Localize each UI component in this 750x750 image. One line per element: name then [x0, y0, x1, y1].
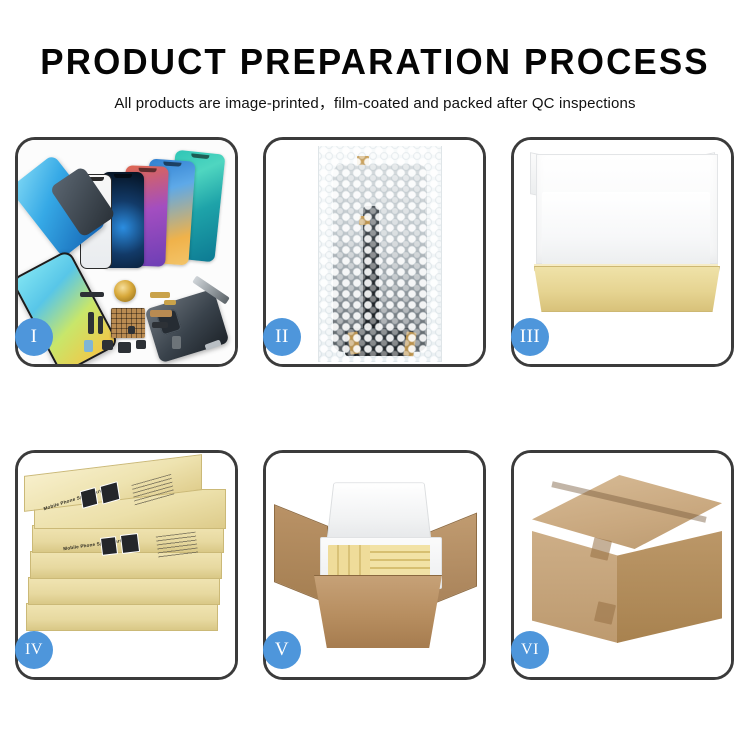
page-subtitle: All products are image-printed，film-coat…: [0, 84, 750, 113]
step-badge-v: V: [263, 631, 301, 669]
step-badge-iii: III: [511, 318, 549, 356]
carton-body: [314, 575, 442, 648]
process-step-grid: I II: [15, 137, 735, 680]
foam-lid-icon: [326, 482, 432, 544]
retail-box-layer: [28, 577, 220, 605]
gold-contact-icon: [150, 310, 172, 317]
ribbon-cable-icon: [98, 316, 103, 334]
step-card-iv[interactable]: Mobile Phone Spare Parts Mobile Phone Sp…: [15, 450, 238, 680]
step-badge-i: I: [15, 318, 53, 356]
step-card-ii[interactable]: II: [263, 137, 486, 367]
step-badge-iv: IV: [15, 631, 53, 669]
step-card-vi[interactable]: VI: [511, 450, 734, 680]
page-header: PRODUCT PREPARATION PROCESS All products…: [0, 0, 750, 113]
camera-module-icon: [102, 340, 113, 350]
step-badge-vi: VI: [511, 631, 549, 669]
step-card-v[interactable]: V: [263, 450, 486, 680]
ribbon-cable-icon: [88, 312, 94, 334]
step-card-i[interactable]: I: [15, 137, 238, 367]
bubble-bag: [318, 146, 442, 362]
connector-icon: [150, 292, 170, 298]
flex-cable-icon: [80, 292, 104, 297]
screw-part-icon: [128, 326, 135, 334]
coil-part-icon: [114, 280, 136, 302]
retail-box-layer: [30, 551, 222, 579]
step-card-iii[interactable]: III: [511, 137, 734, 367]
retail-box-layer: [26, 603, 218, 631]
battery-part-icon: [84, 340, 93, 352]
module-icon: [152, 322, 168, 328]
bubble-texture: [319, 146, 441, 362]
step-badge-ii: II: [263, 318, 301, 356]
button-part-icon: [172, 336, 181, 349]
box-artwork-thumb: [100, 536, 118, 556]
speaker-module-icon: [118, 342, 131, 353]
box-front-wall: [534, 266, 720, 312]
foam-sheet-icon: [542, 192, 710, 266]
bracket-icon: [136, 340, 146, 349]
connector-small-icon: [164, 300, 176, 305]
page-title: PRODUCT PREPARATION PROCESS: [11, 0, 739, 84]
box-artwork-thumb: [120, 533, 140, 554]
